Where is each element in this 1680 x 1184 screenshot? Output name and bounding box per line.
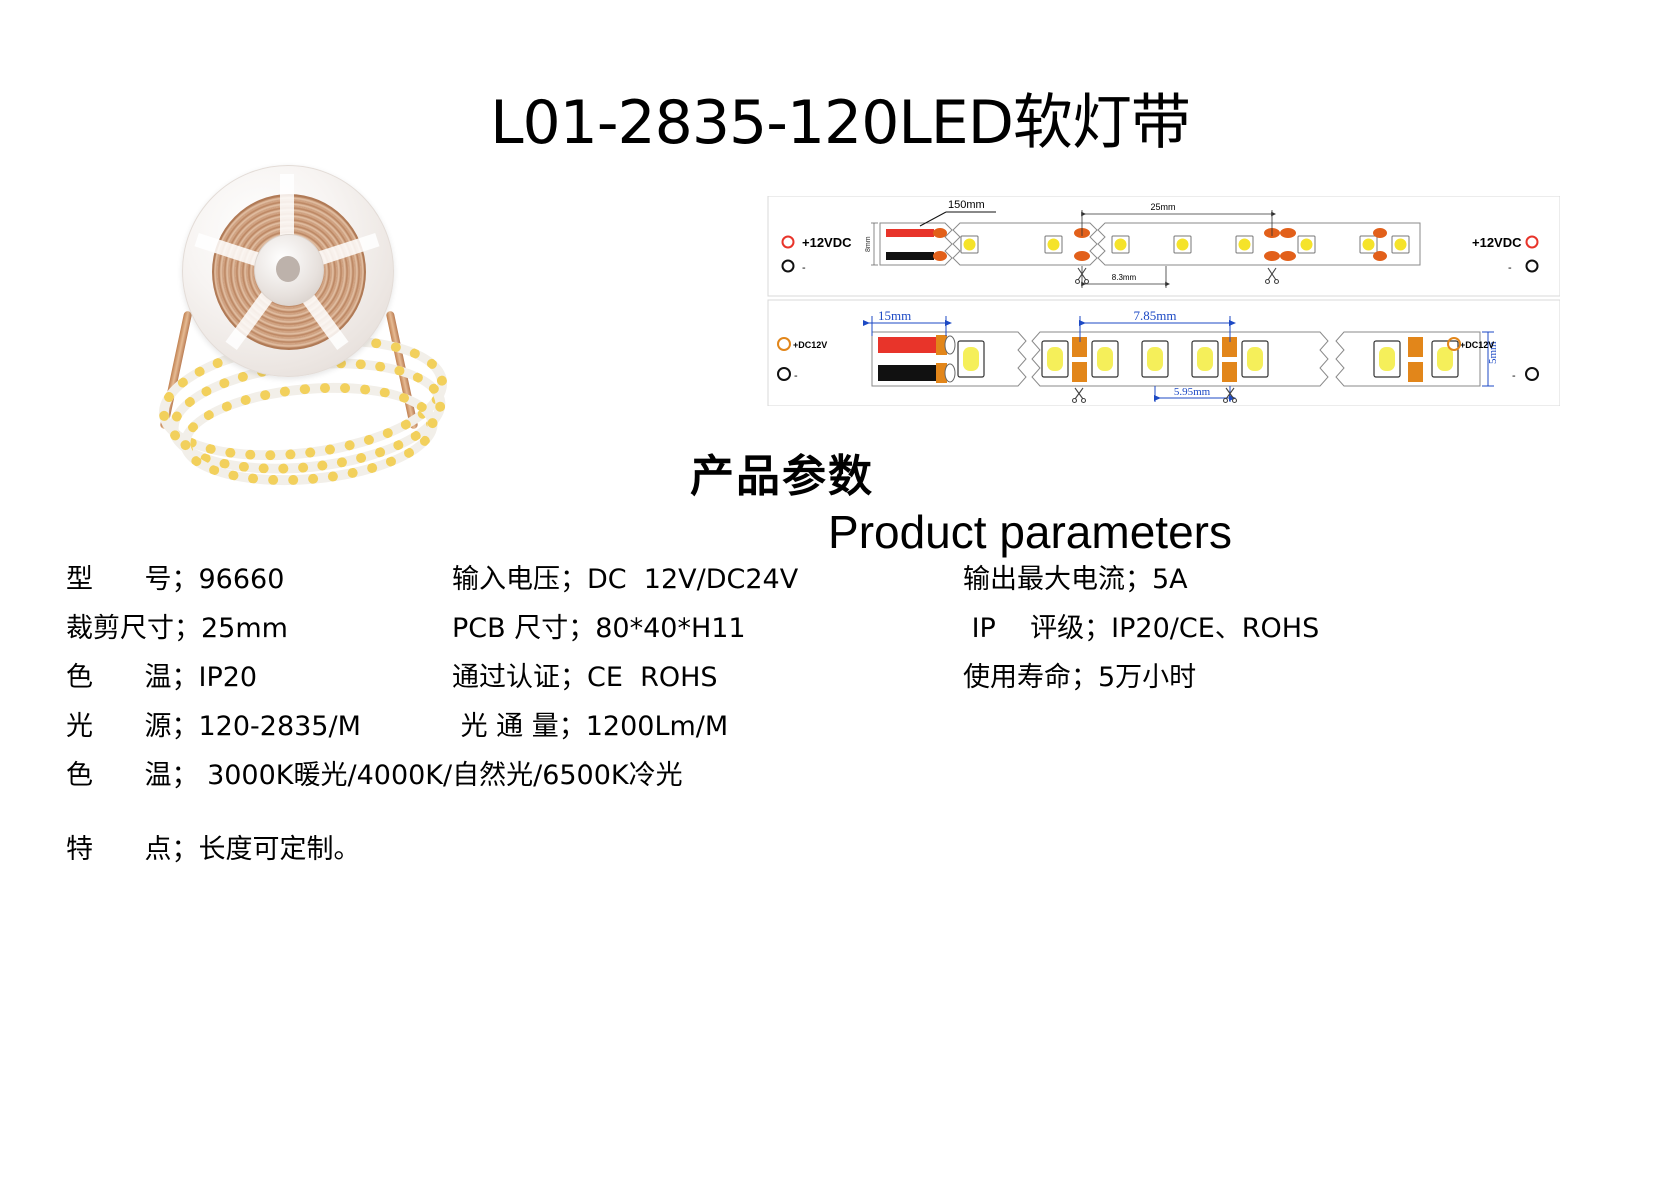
spec-row: 色 温； 3000K暖光/4000K/自然光/6500K冷光 (0, 759, 1680, 808)
spec-max-output-current: 输出最大电流；5A (963, 563, 1188, 597)
solder-pad (933, 251, 947, 261)
wire-positive-bottom (878, 337, 936, 353)
dimension-strip-width: 8mm (865, 236, 872, 252)
spec-grid: 型 号；96660 输入电压；DC 12V/DC24V 输出最大电流；5A 裁剪… (0, 563, 1680, 813)
dimension-lead-length-bottom: 15mm (878, 308, 911, 323)
terminal-positive-label-right: +12VDC (1472, 235, 1522, 250)
terminal-positive-label-bottom: +DC12V (793, 340, 827, 350)
spec-row: 色 温；IP20 通过认证；CE ROHS 使用寿命；5万小时 (0, 661, 1680, 710)
terminal-positive-label: +12VDC (802, 235, 852, 250)
spec-light-source: 光 源；120-2835/M (66, 710, 361, 744)
reel-spoke (280, 174, 294, 238)
dimension-cut-interval-bottom: 7.85mm (1134, 308, 1177, 323)
spec-color-temperature: 色 温； 3000K暖光/4000K/自然光/6500K冷光 (66, 759, 683, 793)
spec-color-temp-ip: 色 温；IP20 (66, 661, 257, 695)
dimension-lead-length: 150mm (948, 199, 985, 211)
page-title: L01-2835-120LED软灯带 (0, 74, 1680, 161)
spec-ip-rating: IP 评级；IP20/CE、ROHS (963, 612, 1319, 646)
spec-lifetime: 使用寿命；5万小时 (963, 661, 1196, 695)
terminal-negative-label: - (802, 262, 806, 274)
solder-pad (933, 228, 947, 238)
spec-certification: 通过认证；CE ROHS (452, 661, 718, 695)
spec-row: 光 源；120-2835/M 光 通 量；1200Lm/M (0, 710, 1680, 759)
technical-drawing: +12VDC - 8mm 150mm 25 (760, 196, 1560, 406)
spec-pcb-size: PCB 尺寸；80*40*H11 (452, 612, 746, 646)
wire-positive (886, 229, 934, 237)
product-photo-led-strip-reel (150, 160, 490, 490)
spec-row: 型 号；96660 输入电压；DC 12V/DC24V 输出最大电流；5A (0, 563, 1680, 612)
spec-luminous-flux: 光 通 量；1200Lm/M (452, 710, 728, 744)
terminal-positive-label-bottom-right: +DC12V (1460, 340, 1494, 350)
spec-model: 型 号；96660 (66, 563, 284, 597)
terminal-negative-label-bottom: - (794, 370, 798, 382)
dimension-cut-interval: 25mm (1150, 202, 1175, 212)
spec-cut-size: 裁剪尺寸；25mm (66, 612, 288, 646)
reel-hub-center (276, 256, 300, 282)
spec-input-voltage: 输入电压；DC 12V/DC24V (452, 563, 798, 597)
terminal-negative-label-bottom-right: - (1512, 370, 1516, 382)
terminal-negative-label-right: - (1508, 262, 1512, 274)
spec-features: 特 点；长度可定制。 (66, 833, 361, 867)
wire-negative (886, 252, 934, 260)
dimension-led-pitch-bottom: 5.95mm (1174, 386, 1211, 398)
section-heading-en: Product parameters (540, 505, 1520, 559)
spec-row: 裁剪尺寸；25mm PCB 尺寸；80*40*H11 IP 评级；IP20/CE… (0, 612, 1680, 661)
wire-negative-bottom (878, 365, 936, 381)
dimension-led-pitch: 8.3mm (1112, 273, 1137, 282)
section-heading-cn: 产品参数 (690, 440, 874, 504)
